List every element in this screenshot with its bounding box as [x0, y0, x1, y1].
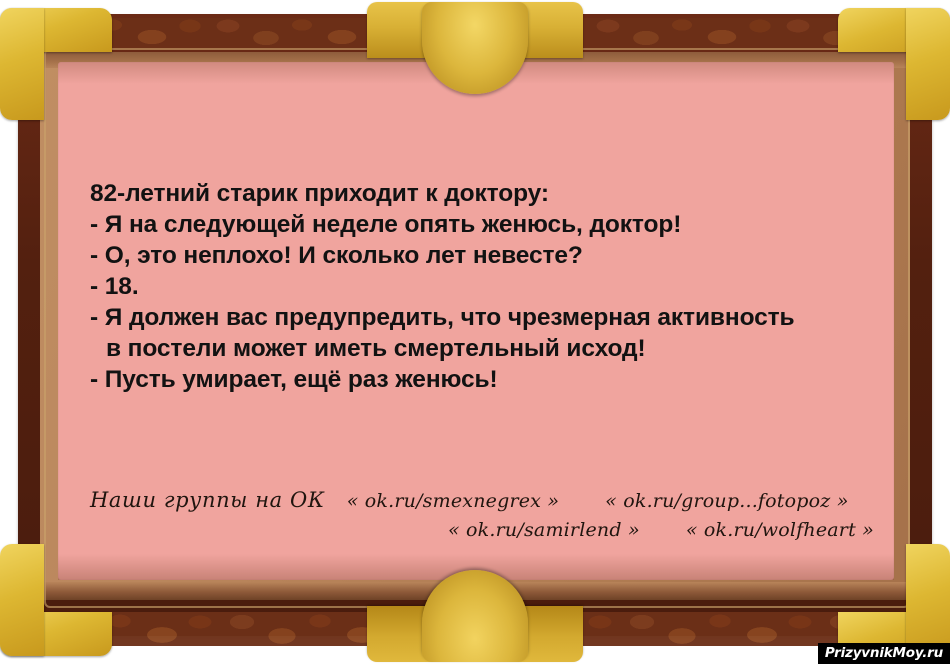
corner-arm-vertical — [0, 544, 44, 656]
joke-line: - Пусть умирает, ещё раз женюсь! — [90, 364, 910, 395]
footer-groups: Наши группы на ОК « ok.ru/smexnegrex » «… — [90, 488, 880, 541]
joke-line: 82-летний старик приходит к доктору: — [90, 178, 910, 209]
watermark: PrizyvnikMoy.ru — [818, 643, 950, 664]
footer-row-1: Наши группы на ОК « ok.ru/smexnegrex » «… — [90, 488, 880, 512]
gold-corner-top-left — [0, 8, 112, 120]
footer-label: Наши группы на ОК — [90, 488, 325, 512]
footer-row-2: « ok.ru/samirlend » « ok.ru/wolfheart » — [90, 519, 880, 541]
joke-line: - Я на следующей неделе опять женюсь, до… — [90, 209, 910, 240]
footer-link-smexnegrex[interactable]: « ok.ru/smexnegrex » — [347, 490, 559, 512]
joke-line: в постели может иметь смертельный исход! — [90, 333, 910, 364]
corner-arm-vertical — [0, 8, 44, 120]
corner-arm-vertical — [906, 8, 950, 120]
gold-corner-top-right — [838, 8, 950, 120]
footer-link-fotopoz[interactable]: « ok.ru/group...fotopoz » — [605, 490, 848, 512]
joke-line: - Я должен вас предупредить, что чрезмер… — [90, 302, 910, 333]
joke-line: - О, это неплохо! И сколько лет невесте? — [90, 240, 910, 271]
image-canvas: 82-летний старик приходит к доктору: - Я… — [0, 0, 950, 664]
footer-link-wolfheart[interactable]: « ok.ru/wolfheart » — [686, 519, 874, 541]
gold-corner-bottom-left — [0, 544, 112, 656]
joke-line: - 18. — [90, 271, 910, 302]
corner-arm-vertical — [906, 544, 950, 656]
joke-text-block: 82-летний старик приходит к доктору: - Я… — [90, 178, 910, 395]
footer-link-samirlend[interactable]: « ok.ru/samirlend » — [448, 519, 640, 541]
gold-corner-bottom-right — [838, 544, 950, 656]
